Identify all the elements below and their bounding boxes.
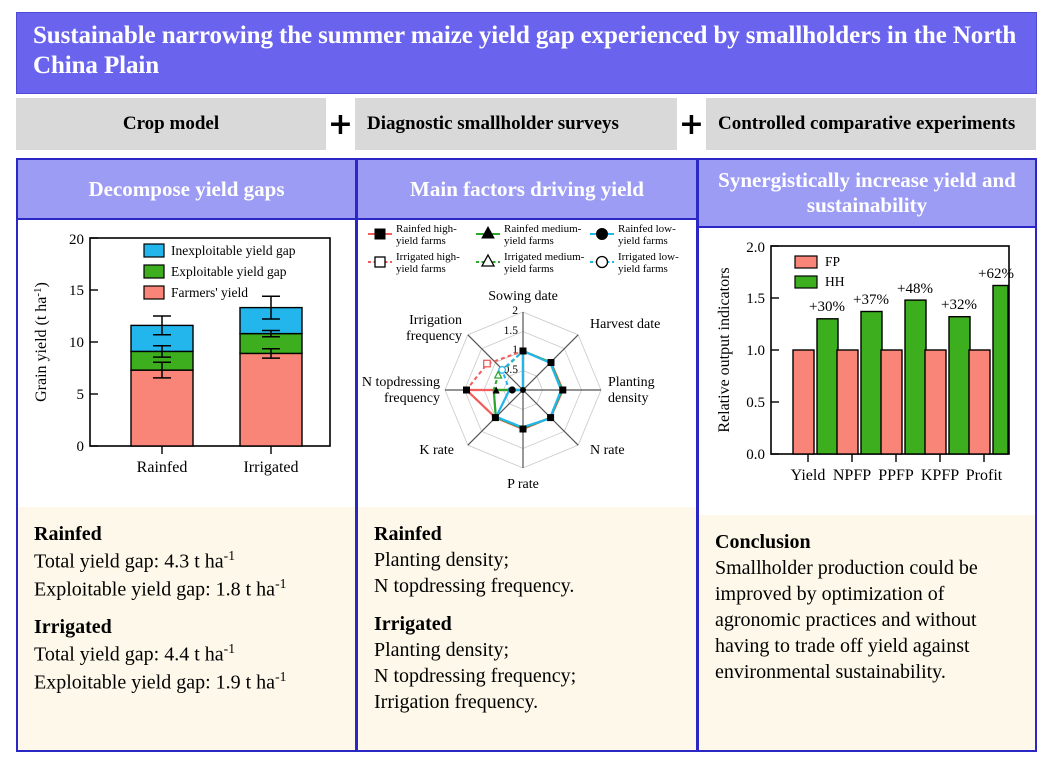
radar-axis-k-rate: K rate — [419, 443, 454, 458]
text-line: Planting density; — [374, 547, 682, 573]
radar-axis-n-rate: N rate — [590, 443, 625, 458]
plus-icon-1: + — [326, 98, 355, 150]
text-line: Planting density; — [374, 637, 682, 663]
legend-irrigated-medium-l1: Irrigated medium- — [504, 251, 585, 263]
y-axis-label: Relative output indicators — [716, 267, 733, 432]
ytick-0.0: 0.0 — [746, 447, 765, 463]
method-strip: Crop model + Diagnostic smallholder surv… — [16, 98, 1037, 150]
text-block-heading: Irrigated — [34, 616, 112, 638]
xtick-irrigated: Irrigated — [243, 459, 298, 476]
text-line: Exploitable yield gap: 1.9 t ha-1 — [34, 668, 341, 696]
text-block-heading: Irrigated — [374, 613, 452, 635]
panel-heading-factors: Main factors driving yield — [358, 160, 696, 220]
graphical-abstract: Sustainable narrowing the summer maize y… — [0, 0, 1053, 764]
legend-label-fp: FP — [825, 254, 840, 269]
panel-text-decompose: Rainfed Total yield gap: 4.3 t ha-1 Expl… — [18, 507, 355, 750]
rtick-1.5: 1.5 — [504, 325, 519, 337]
annotation-profit: +62% — [978, 266, 1014, 282]
text-block-irrigated: Irrigated Planting density; N topdressin… — [374, 611, 682, 715]
text-line: N topdressing frequency; — [374, 663, 682, 689]
bar-group-irrigated: Irrigated — [240, 296, 302, 476]
figure-driving-factors-radar: Rainfed high- yield farms Rainfed medium… — [358, 220, 696, 507]
legend-label-farmers-yield: Farmers' yield — [171, 285, 248, 300]
ytick-15: 15 — [69, 283, 84, 299]
radar-axis-harvest-date: Harvest date — [590, 317, 660, 332]
panel-text-synergy: Conclusion Smallholder production could … — [699, 515, 1035, 750]
xtick-ppfp: PPFP — [878, 467, 914, 484]
legend-label-inexploitable: Inexploitable yield gap — [171, 243, 296, 258]
ytick-1.0: 1.0 — [746, 343, 765, 359]
legend-rainfed-low-l1: Rainfed low- — [618, 223, 676, 235]
legend-irrigated-high-l1: Irrigated high- — [396, 251, 460, 263]
xtick-rainfed: Rainfed — [137, 459, 188, 476]
legend-irrigated-high-l2: yield farms — [396, 263, 446, 275]
xtick-npfp: NPFP — [833, 467, 871, 484]
legend-rainfed-medium-l2: yield farms — [504, 235, 554, 247]
y-axis-label: Grain yield (t ha-1) — [32, 282, 50, 402]
radar-axis-planting-density-l1: Planting — [608, 375, 655, 390]
ytick-0.5: 0.5 — [746, 395, 765, 411]
legend-rainfed-high-l2: yield farms — [396, 235, 446, 247]
legend-irrigated-medium-l2: yield farms — [504, 263, 554, 275]
plus-icon-2: + — [677, 98, 706, 150]
legend-rainfed-low-l2: yield farms — [618, 235, 668, 247]
panel-factors: Main factors driving yield Rainfed high-… — [357, 158, 697, 752]
text-block-rainfed: Rainfed Planting density; N topdressing … — [374, 521, 682, 599]
ytick-1.5: 1.5 — [746, 291, 765, 307]
method-box-experiments: Controlled comparative experiments — [706, 98, 1036, 150]
xtick-yield: Yield — [791, 467, 826, 484]
panel-decompose: Decompose yield gaps 0 5 10 — [16, 158, 357, 752]
text-line: Exploitable yield gap: 1.8 t ha-1 — [34, 575, 341, 603]
xtick-kpfp: KPFP — [921, 467, 959, 484]
text-block-conclusion: Conclusion Smallholder production could … — [715, 529, 1021, 685]
ytick-20: 20 — [69, 232, 84, 248]
legend-radar: Rainfed high- yield farms Rainfed medium… — [368, 223, 679, 275]
annotation-yield: +30% — [809, 299, 845, 315]
radar-axis-n-topdressing-l1: N topdressing — [362, 375, 440, 390]
radar-axis-p-rate: P rate — [507, 477, 539, 492]
xtick-profit: Profit — [966, 467, 1003, 484]
bar-group-rainfed: Rainfed — [131, 316, 193, 476]
ytick-5: 5 — [77, 387, 85, 403]
legend-rainfed-high-l1: Rainfed high- — [396, 223, 457, 235]
text-block-rainfed: Rainfed Total yield gap: 4.3 t ha-1 Expl… — [34, 521, 341, 602]
annotation-ppfp: +48% — [897, 281, 933, 297]
ytick-0: 0 — [77, 439, 85, 455]
text-line: N topdressing frequency. — [374, 573, 682, 599]
radar-axis-planting-density-l2: density — [608, 391, 648, 406]
text-line: Total yield gap: 4.3 t ha-1 — [34, 547, 341, 575]
text-block-heading: Rainfed — [374, 523, 442, 545]
panel-heading-synergy: Synergistically increase yield and susta… — [699, 160, 1035, 228]
legend-irrigated-low-l2: yield farms — [618, 263, 668, 275]
panel-synergy: Synergistically increase yield and susta… — [697, 158, 1037, 752]
ytick-2.0: 2.0 — [746, 240, 765, 256]
text-line: Irrigation frequency. — [374, 689, 682, 715]
method-box-crop-model: Crop model — [16, 98, 326, 150]
radar-axis-irrigation-l1: Irrigation — [409, 313, 462, 328]
page-title: Sustainable narrowing the summer maize y… — [16, 12, 1037, 94]
text-block-heading: Rainfed — [34, 523, 102, 545]
panels-row: Decompose yield gaps 0 5 10 — [16, 158, 1037, 752]
panel-text-factors: Rainfed Planting density; N topdressing … — [358, 507, 696, 750]
legend-label-exploitable: Exploitable yield gap — [171, 264, 287, 279]
text-block-irrigated: Irrigated Total yield gap: 4.4 t ha-1 Ex… — [34, 614, 341, 695]
legend-rainfed-medium-l1: Rainfed medium- — [504, 223, 582, 235]
annotation-kpfp: +32% — [941, 297, 977, 313]
legend-label-hh: HH — [825, 274, 845, 289]
method-box-surveys: Diagnostic smallholder surveys — [355, 98, 677, 150]
ytick-10: 10 — [69, 335, 84, 351]
text-line: Smallholder production could be improved… — [715, 555, 1021, 685]
radar-axis-irrigation-l2: frequency — [406, 329, 462, 344]
rtick-2: 2 — [512, 305, 518, 317]
annotation-npfp: +37% — [853, 292, 889, 308]
text-line: Total yield gap: 4.4 t ha-1 — [34, 640, 341, 668]
figure-relative-output-indicators: 0.0 0.5 1.0 1.5 2.0 Relative output indi… — [699, 228, 1035, 515]
radar-axis-n-topdressing-l2: frequency — [384, 391, 440, 406]
text-block-heading: Conclusion — [715, 531, 811, 553]
figure-yield-gap-stacked-bar: 0 5 10 15 20 Grain yield (t ha-1) — [18, 220, 355, 507]
panel-heading-decompose: Decompose yield gaps — [18, 160, 355, 220]
legend-irrigated-low-l1: Irrigated low- — [618, 251, 679, 263]
radar-axis-sowing-date: Sowing date — [488, 289, 558, 304]
